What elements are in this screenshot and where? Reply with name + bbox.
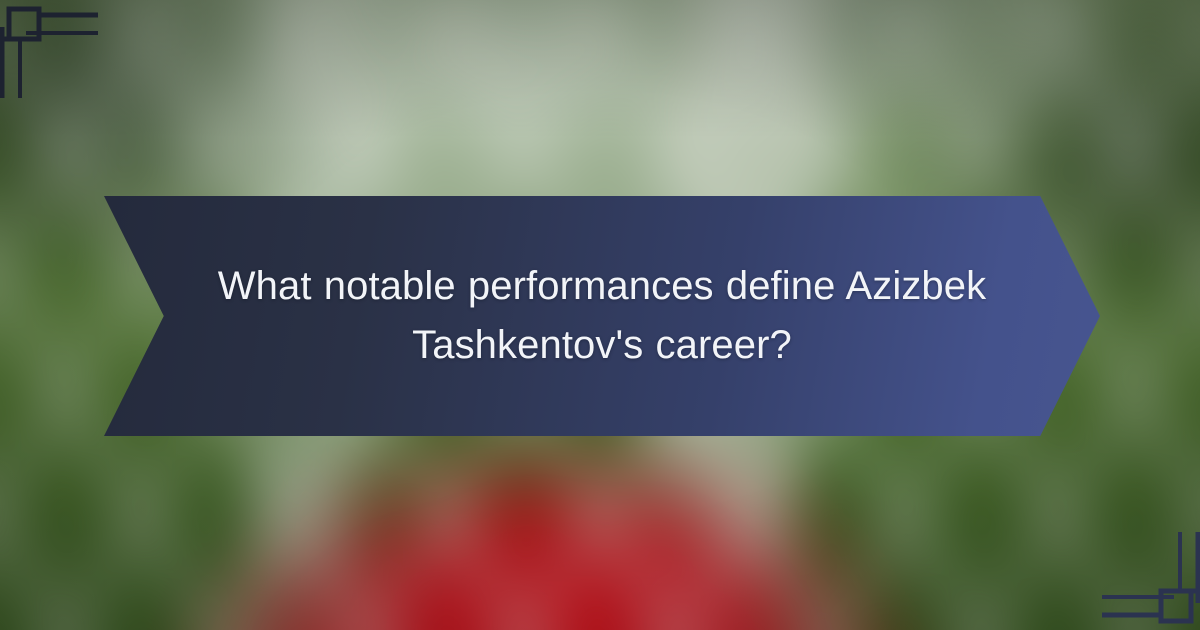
question-banner: What notable performances define Azizbek…	[104, 196, 1100, 436]
banner-content: What notable performances define Azizbek…	[197, 257, 1007, 375]
question-card: What notable performances define Azizbek…	[0, 0, 1200, 630]
question-title: What notable performances define Azizbek…	[207, 257, 997, 375]
